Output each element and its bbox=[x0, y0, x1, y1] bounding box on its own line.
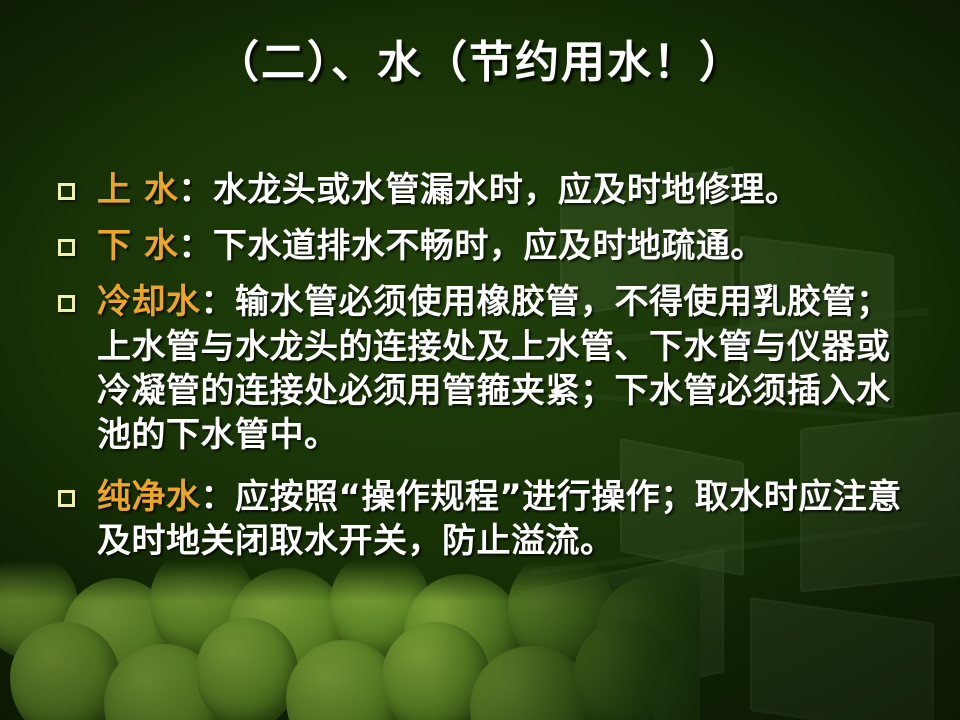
bullet-paragraph: 下 水：下水道排水不畅时，应及时地疏通。 bbox=[97, 224, 903, 268]
bullet-separator: ： bbox=[201, 477, 236, 517]
bullet-item-chunjingshui: 纯净水：应按照“操作规程”进行操作；取水时应注意及时地关闭取水开关，防止溢流。 bbox=[58, 475, 903, 563]
bullet-item-lengquéshui: 冷却水：输水管必须使用橡胶管，不得使用乳胶管；上水管与水龙头的连接处及上水管、下… bbox=[58, 280, 903, 457]
bullet-item-shangshui: 上 水：水龙头或水管漏水时，应及时地修理。 bbox=[58, 168, 903, 212]
hollow-square-bullet-icon bbox=[58, 490, 75, 507]
slide-canvas: （二）、水（节约用水！） 上 水：水龙头或水管漏水时，应及时地修理。 下 水：下… bbox=[0, 0, 960, 720]
bullet-text: 下水道排水不畅时，应及时地疏通。 bbox=[213, 226, 765, 266]
bullet-separator: ： bbox=[178, 170, 213, 210]
bullet-separator: ： bbox=[201, 282, 236, 322]
slide-body: 上 水：水龙头或水管漏水时，应及时地修理。 下 水：下水道排水不畅时，应及时地疏… bbox=[58, 168, 903, 564]
bullet-paragraph: 冷却水：输水管必须使用橡胶管，不得使用乳胶管；上水管与水龙头的连接处及上水管、下… bbox=[97, 280, 903, 457]
spacer bbox=[58, 212, 903, 224]
slide-title: （二）、水（节约用水！） bbox=[0, 38, 960, 89]
bullet-lead-label: 上 水 bbox=[97, 170, 178, 210]
hollow-square-bullet-icon bbox=[58, 295, 75, 312]
bullet-separator: ： bbox=[178, 226, 213, 266]
bullet-text: 水龙头或水管漏水时，应及时地修理。 bbox=[213, 170, 800, 210]
bullet-paragraph: 纯净水：应按照“操作规程”进行操作；取水时应注意及时地关闭取水开关，防止溢流。 bbox=[97, 475, 903, 563]
hollow-square-bullet-icon bbox=[58, 239, 75, 256]
bullet-paragraph: 上 水：水龙头或水管漏水时，应及时地修理。 bbox=[97, 168, 903, 212]
spacer bbox=[58, 268, 903, 280]
bullet-lead-label: 下 水 bbox=[97, 226, 178, 266]
bullet-lead-label: 纯净水 bbox=[97, 477, 201, 517]
spacer bbox=[58, 457, 903, 475]
hollow-square-bullet-icon bbox=[58, 183, 75, 200]
bullet-lead-label: 冷却水 bbox=[97, 282, 201, 322]
bullet-item-xiashui: 下 水：下水道排水不畅时，应及时地疏通。 bbox=[58, 224, 903, 268]
